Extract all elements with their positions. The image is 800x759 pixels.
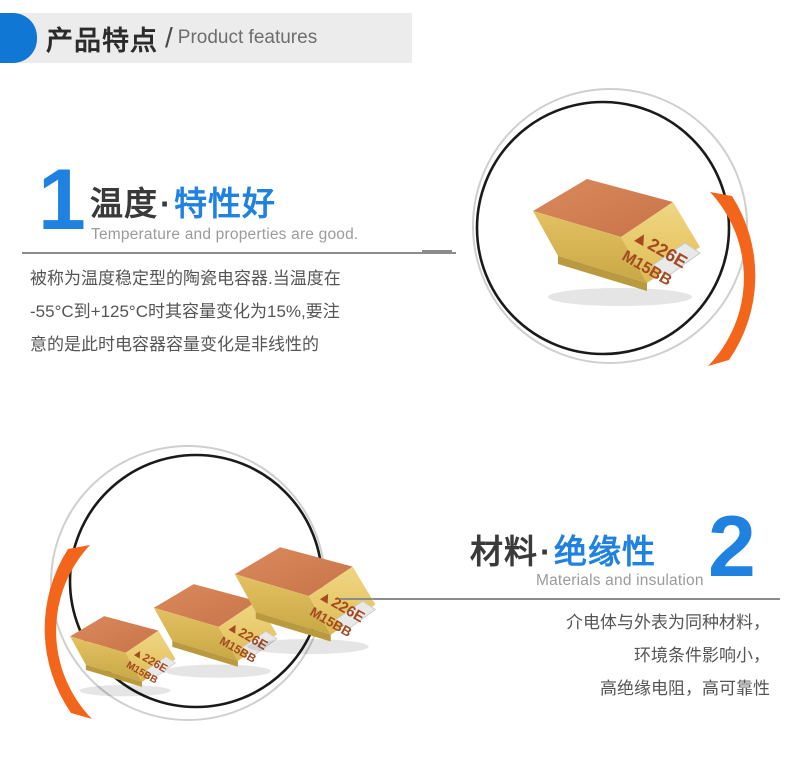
feature-1-title: 温度·特性好	[90, 177, 276, 225]
feature-1-body-line-2: -55°C到+125°C时其容量变化为15%,要注	[30, 295, 341, 328]
feature-block-2: 2 材料·绝缘性 Materials and insulation 介电体与外表…	[0, 400, 800, 759]
feature-1-image-frame: ▲226E M15BB	[440, 78, 790, 378]
capacitor-shadow-1	[548, 288, 692, 306]
feature-2-body-line-3: 高绝缘电阻，高可靠性	[420, 672, 770, 705]
feature-2-title-accent: 绝缘性	[554, 533, 656, 570]
feature-1-body-line-3: 意的是此时电容器容量变化是非线性的	[30, 328, 341, 361]
feature-2-connector-stub	[340, 598, 372, 600]
feature-2-image-frame: ▲226E M15BB ▲226E M15BB	[10, 425, 370, 735]
feature-2-title: 材料·绝缘性	[470, 525, 656, 573]
feature-2-number: 2	[708, 510, 756, 586]
feature-1-title-accent: 特性好	[174, 185, 276, 222]
feature-2-title-dot: ·	[540, 533, 552, 570]
feature-1-number: 1	[38, 163, 86, 239]
feature-2-title-main: 材料	[470, 533, 538, 570]
capacitor-shadow-2b	[165, 665, 271, 678]
feature-1-body: 被称为温度稳定型的陶瓷电容器.当温度在 -55°C到+125°C时其容量变化为1…	[30, 262, 341, 361]
feature-1-subtitle: Temperature and properties are good.	[91, 226, 358, 244]
product-features-page: 产品特点 / Product features 1 温度·特性好 Tempera…	[0, 0, 800, 759]
capacitor-image-1: ▲226E M15BB	[525, 173, 715, 308]
feature-2-subtitle: Materials and insulation	[536, 572, 704, 590]
feature-1-connector-stub	[422, 250, 452, 252]
feature-2-body-line-2: 环境条件影响小，	[420, 639, 770, 672]
feature-2-body: 介电体与外表为同种材料， 环境条件影响小， 高绝缘电阻，高可靠性	[420, 606, 770, 705]
feature-2-body-line-1: 介电体与外表为同种材料，	[420, 606, 770, 639]
feature-2-divider	[345, 598, 780, 600]
capacitor-shadow-2a	[80, 685, 171, 696]
orange-accent-arc-1	[708, 192, 755, 366]
feature-1-body-line-1: 被称为温度稳定型的陶瓷电容器.当温度在	[30, 262, 341, 295]
feature-1-title-dot: ·	[160, 185, 172, 222]
feature-1-title-main: 温度	[90, 185, 158, 222]
feature-block-1: 1 温度·特性好 Temperature and properties are …	[0, 0, 800, 400]
feature-1-divider	[22, 252, 456, 254]
capacitor-shadow-2c	[247, 639, 368, 654]
